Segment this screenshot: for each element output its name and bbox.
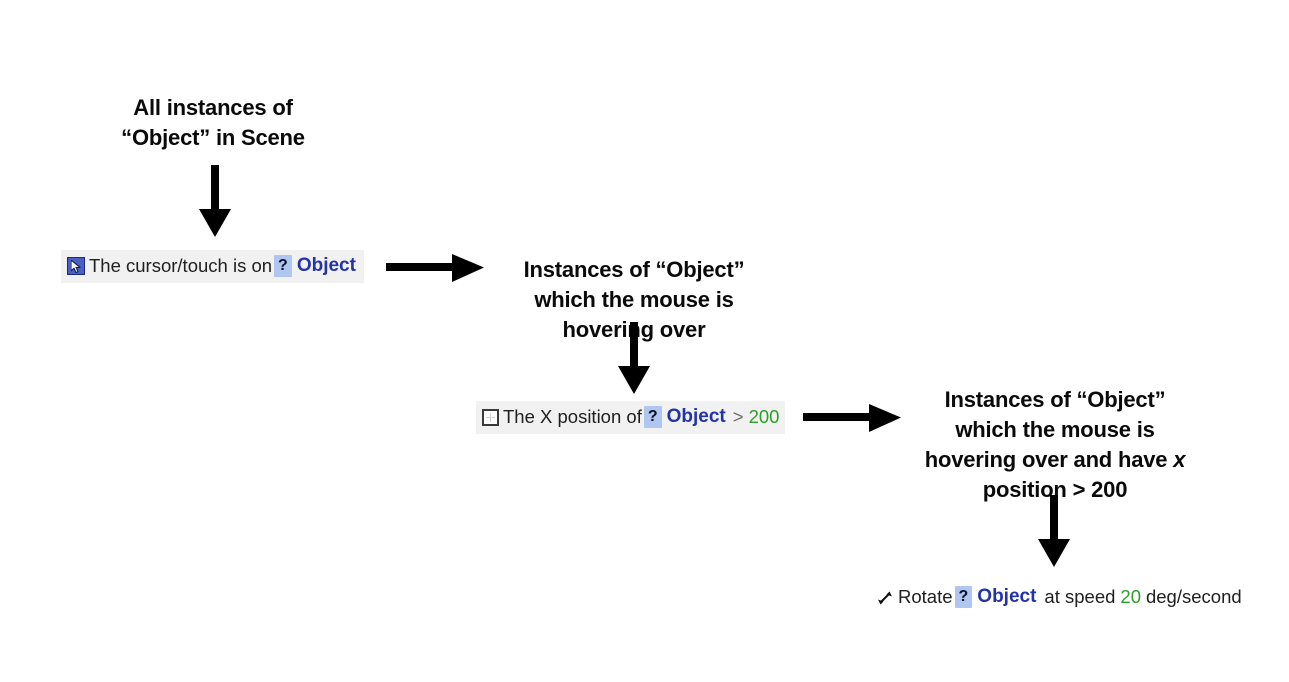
object-badge-label: Object xyxy=(667,404,726,430)
object-badge-label: Object xyxy=(977,584,1036,610)
right-arrow-icon xyxy=(803,400,901,436)
page-title-text: All instances of “Object” in Scene xyxy=(121,95,305,150)
right-arrow-icon xyxy=(386,250,484,286)
statement-text: The cursor/touch is on xyxy=(89,253,272,279)
annotation-hovering-and-x-pre: Instances of “Object” which the mouse is… xyxy=(925,387,1173,472)
annotation-hovering-and-x: Instances of “Object” which the mouse is… xyxy=(920,355,1190,505)
grid-position-icon xyxy=(482,409,499,426)
annotation-hovering-and-x-italic: x xyxy=(1173,447,1185,472)
statement-rotate-object[interactable]: Rotate ? Object at speed 20 deg/second xyxy=(870,581,1248,614)
arrow-down-annotation-to-xposition xyxy=(614,322,654,394)
object-badge-question-mark: ? xyxy=(644,406,662,428)
down-arrow-icon xyxy=(1034,495,1074,567)
statement-text: Rotate xyxy=(898,584,953,610)
arrow-down-annotation-to-rotate xyxy=(1034,495,1074,567)
arrow-down-title-to-cursor-block xyxy=(195,165,235,237)
arrow-right-cursor-to-annotation xyxy=(386,250,484,286)
statement-text: The X position of xyxy=(503,404,642,430)
comparison-value[interactable]: 200 xyxy=(749,404,780,430)
object-badge[interactable]: ? Object xyxy=(274,253,356,279)
object-badge-question-mark: ? xyxy=(274,255,292,277)
object-badge-question-mark: ? xyxy=(955,586,973,608)
mouse-pointer-icon xyxy=(71,260,83,273)
rotate-diagonal-arrow-icon xyxy=(876,588,894,606)
statement-x-position[interactable]: The X position of ? Object > 200 xyxy=(476,401,785,434)
diagonal-double-arrow-icon xyxy=(876,589,894,607)
page-title: All instances of “Object” in Scene xyxy=(73,63,353,153)
statement-text-mid: at speed xyxy=(1044,584,1115,610)
arrow-right-xposition-to-annotation xyxy=(803,400,901,436)
down-arrow-icon xyxy=(195,165,235,237)
statement-text-after: deg/second xyxy=(1146,584,1242,610)
down-arrow-icon xyxy=(614,322,654,394)
cursor-on-object-icon xyxy=(67,257,85,275)
speed-value[interactable]: 20 xyxy=(1120,584,1141,610)
object-badge[interactable]: ? Object xyxy=(955,584,1037,610)
object-badge-label: Object xyxy=(297,253,356,279)
object-badge[interactable]: ? Object xyxy=(644,404,726,430)
comparison-operator[interactable]: > xyxy=(733,404,744,430)
statement-cursor-on-object[interactable]: The cursor/touch is on ? Object xyxy=(61,250,364,283)
